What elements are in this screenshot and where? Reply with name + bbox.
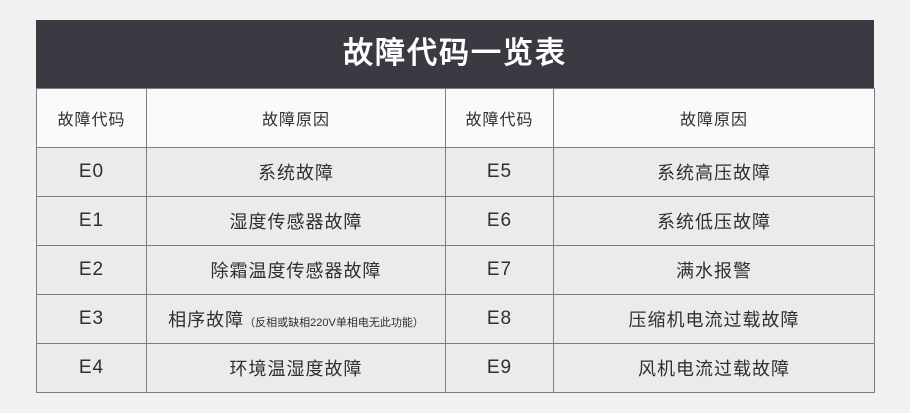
fault-cause-cell: 风机电流过载故障 [554,344,875,393]
fault-cause-cell: 满水报警 [554,246,875,295]
fault-code-cell: E8 [446,295,554,344]
fault-code-table: 故障代码 故障原因 故障代码 故障原因 E0 系统故障 E5 系统高压故障 E1… [36,88,875,393]
fault-cause-cell: 湿度传感器故障 [147,197,446,246]
fault-code-cell: E7 [446,246,554,295]
fault-code-cell: E0 [37,148,147,197]
fault-code-cell: E1 [37,197,147,246]
fault-cause-text: 湿度传感器故障 [230,212,363,232]
fault-cause-text: 相序故障 [168,310,244,330]
fault-cause-text: 除霜温度传感器故障 [211,261,382,281]
table-row: E1 湿度传感器故障 E6 系统低压故障 [37,197,875,246]
page-title: 故障代码一览表 [343,39,567,69]
table-row: E2 除霜温度传感器故障 E7 满水报警 [37,246,875,295]
fault-code-cell: E5 [446,148,554,197]
fault-cause-cell: 系统低压故障 [554,197,875,246]
fault-cause-text: 环境温湿度故障 [230,359,363,379]
column-header-cause-right: 故障原因 [554,89,875,148]
table-header: 故障代码 故障原因 故障代码 故障原因 [37,89,875,148]
fault-code-cell: E3 [37,295,147,344]
fault-cause-cell: 压缩机电流过载故障 [554,295,875,344]
fault-code-cell: E4 [37,344,147,393]
fault-cause-cell: 相序故障（反相或缺相220V单相电无此功能） [147,295,446,344]
fault-cause-cell: 除霜温度传感器故障 [147,246,446,295]
fault-code-cell: E2 [37,246,147,295]
fault-cause-cell: 环境温湿度故障 [147,344,446,393]
column-header-code-left: 故障代码 [37,89,147,148]
title-banner: 故障代码一览表 [36,20,874,88]
table-row: E4 环境温湿度故障 E9 风机电流过载故障 [37,344,875,393]
table-row: E0 系统故障 E5 系统高压故障 [37,148,875,197]
table-body: E0 系统故障 E5 系统高压故障 E1 湿度传感器故障 E6 系统低压故障 E… [37,148,875,393]
fault-cause-cell: 系统故障 [147,148,446,197]
table-header-row: 故障代码 故障原因 故障代码 故障原因 [37,89,875,148]
fault-cause-text: 系统故障 [258,163,334,183]
table-row: E3 相序故障（反相或缺相220V单相电无此功能） E8 压缩机电流过载故障 [37,295,875,344]
fault-code-table-container: 故障代码一览表 故障代码 故障原因 故障代码 故障原因 E0 [36,20,874,393]
fault-cause-note: （反相或缺相220V单相电无此功能） [244,317,424,329]
fault-cause-cell: 系统高压故障 [554,148,875,197]
fault-code-cell: E6 [446,197,554,246]
column-header-code-right: 故障代码 [446,89,554,148]
page-root: 故障代码一览表 故障代码 故障原因 故障代码 故障原因 E0 [0,0,910,413]
column-header-cause-left: 故障原因 [147,89,446,148]
fault-code-cell: E9 [446,344,554,393]
